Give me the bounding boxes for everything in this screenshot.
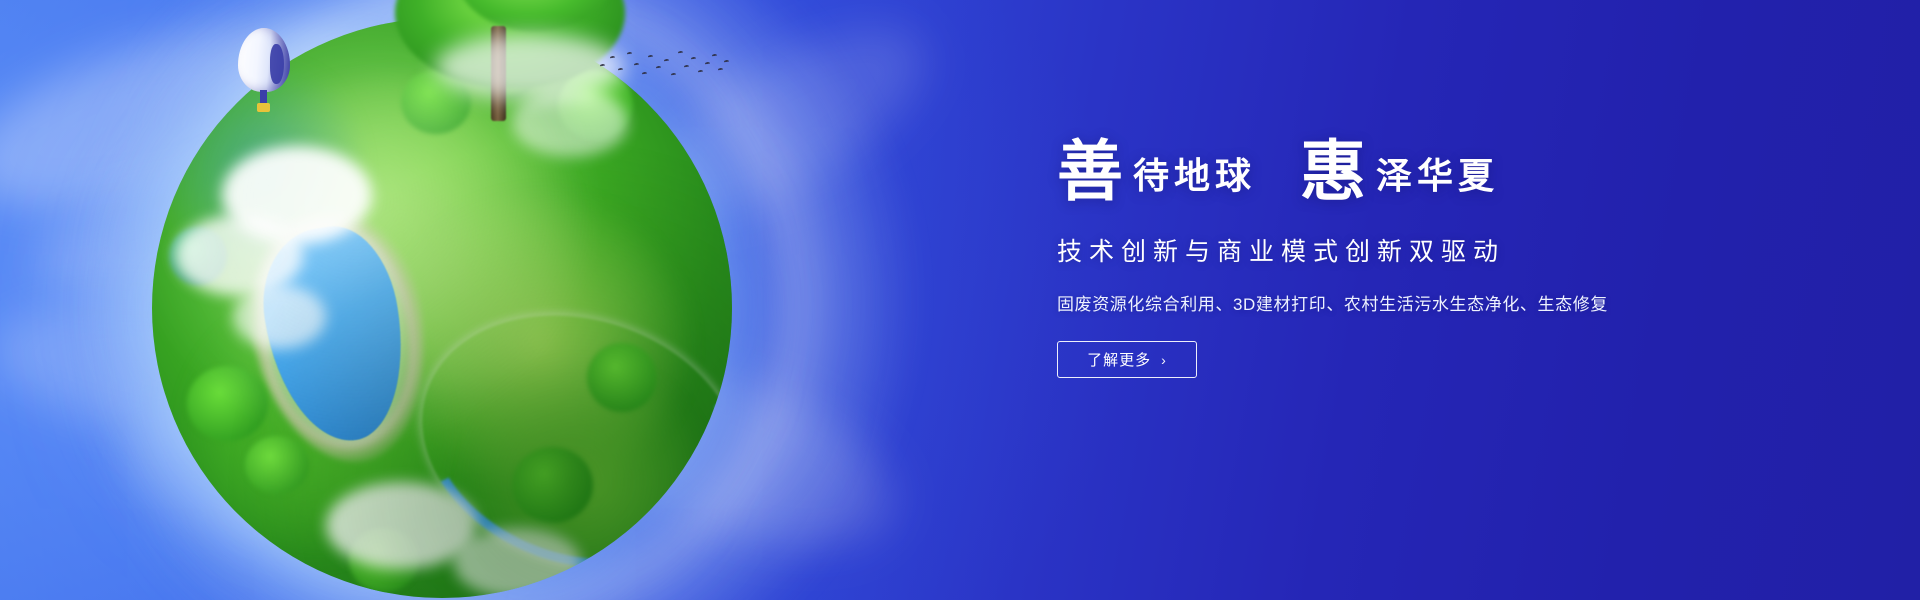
cloud-icon [222, 146, 373, 245]
cloud-icon [326, 482, 477, 569]
bird-icon [627, 52, 632, 56]
bird-icon [664, 59, 669, 63]
bird-icon [671, 73, 676, 77]
headline-rest-1: 待地球 [1133, 156, 1256, 196]
cloud-icon [175, 215, 303, 296]
bird-icon [705, 62, 710, 66]
bird-flock-icon [596, 46, 726, 88]
bird-icon [712, 54, 717, 58]
grass-texture [175, 296, 453, 563]
river-icon [389, 275, 732, 598]
headline-rest-2: 泽华夏 [1376, 156, 1499, 196]
bird-icon [600, 64, 605, 68]
bird-icon [648, 55, 653, 59]
bird-icon [610, 56, 615, 60]
tree-icon [187, 366, 268, 441]
tree-icon [587, 343, 657, 413]
bird-icon [642, 72, 647, 76]
cloud-icon [454, 528, 582, 598]
tree-icon [245, 436, 309, 494]
chevron-right-icon: › [1161, 352, 1167, 368]
bird-icon [684, 65, 689, 69]
bird-icon [678, 51, 683, 55]
grass-texture [372, 192, 708, 494]
headline-lead-1: 善 [1057, 136, 1123, 209]
bird-icon [656, 66, 661, 70]
bird-icon [698, 70, 703, 74]
balloon-envelope [238, 28, 290, 92]
hero-description: 固废资源化综合利用、3D建材打印、农村生活污水生态净化、生态修复 [1057, 290, 1777, 315]
hot-air-balloon-icon [238, 28, 290, 116]
cloud-icon [233, 285, 326, 349]
hero-copy: 善待地球惠泽华夏 技术创新与商业模式创新双驱动 固废资源化综合利用、3D建材打印… [1057, 140, 1777, 378]
hero-subtitle: 技术创新与商业模式创新双驱动 [1057, 232, 1777, 268]
learn-more-label: 了解更多 [1087, 349, 1151, 370]
learn-more-button[interactable]: 了解更多 › [1057, 341, 1197, 378]
tree-icon [169, 227, 227, 285]
page-title: 善待地球惠泽华夏 [1057, 140, 1777, 206]
tree-icon [349, 528, 419, 592]
lake-icon [252, 218, 417, 451]
tree-icon [512, 447, 593, 522]
bird-icon [718, 68, 723, 72]
bird-icon [634, 63, 639, 67]
hero-banner: 善待地球惠泽华夏 技术创新与商业模式创新双驱动 固废资源化综合利用、3D建材打印… [0, 0, 1920, 600]
balloon-basket [257, 103, 270, 112]
large-tree-icon [395, 0, 625, 138]
bird-icon [691, 57, 696, 61]
lake-shore [232, 197, 444, 476]
balloon-neck [260, 90, 267, 104]
bird-icon [618, 68, 623, 72]
headline-lead-2: 惠 [1300, 136, 1366, 209]
